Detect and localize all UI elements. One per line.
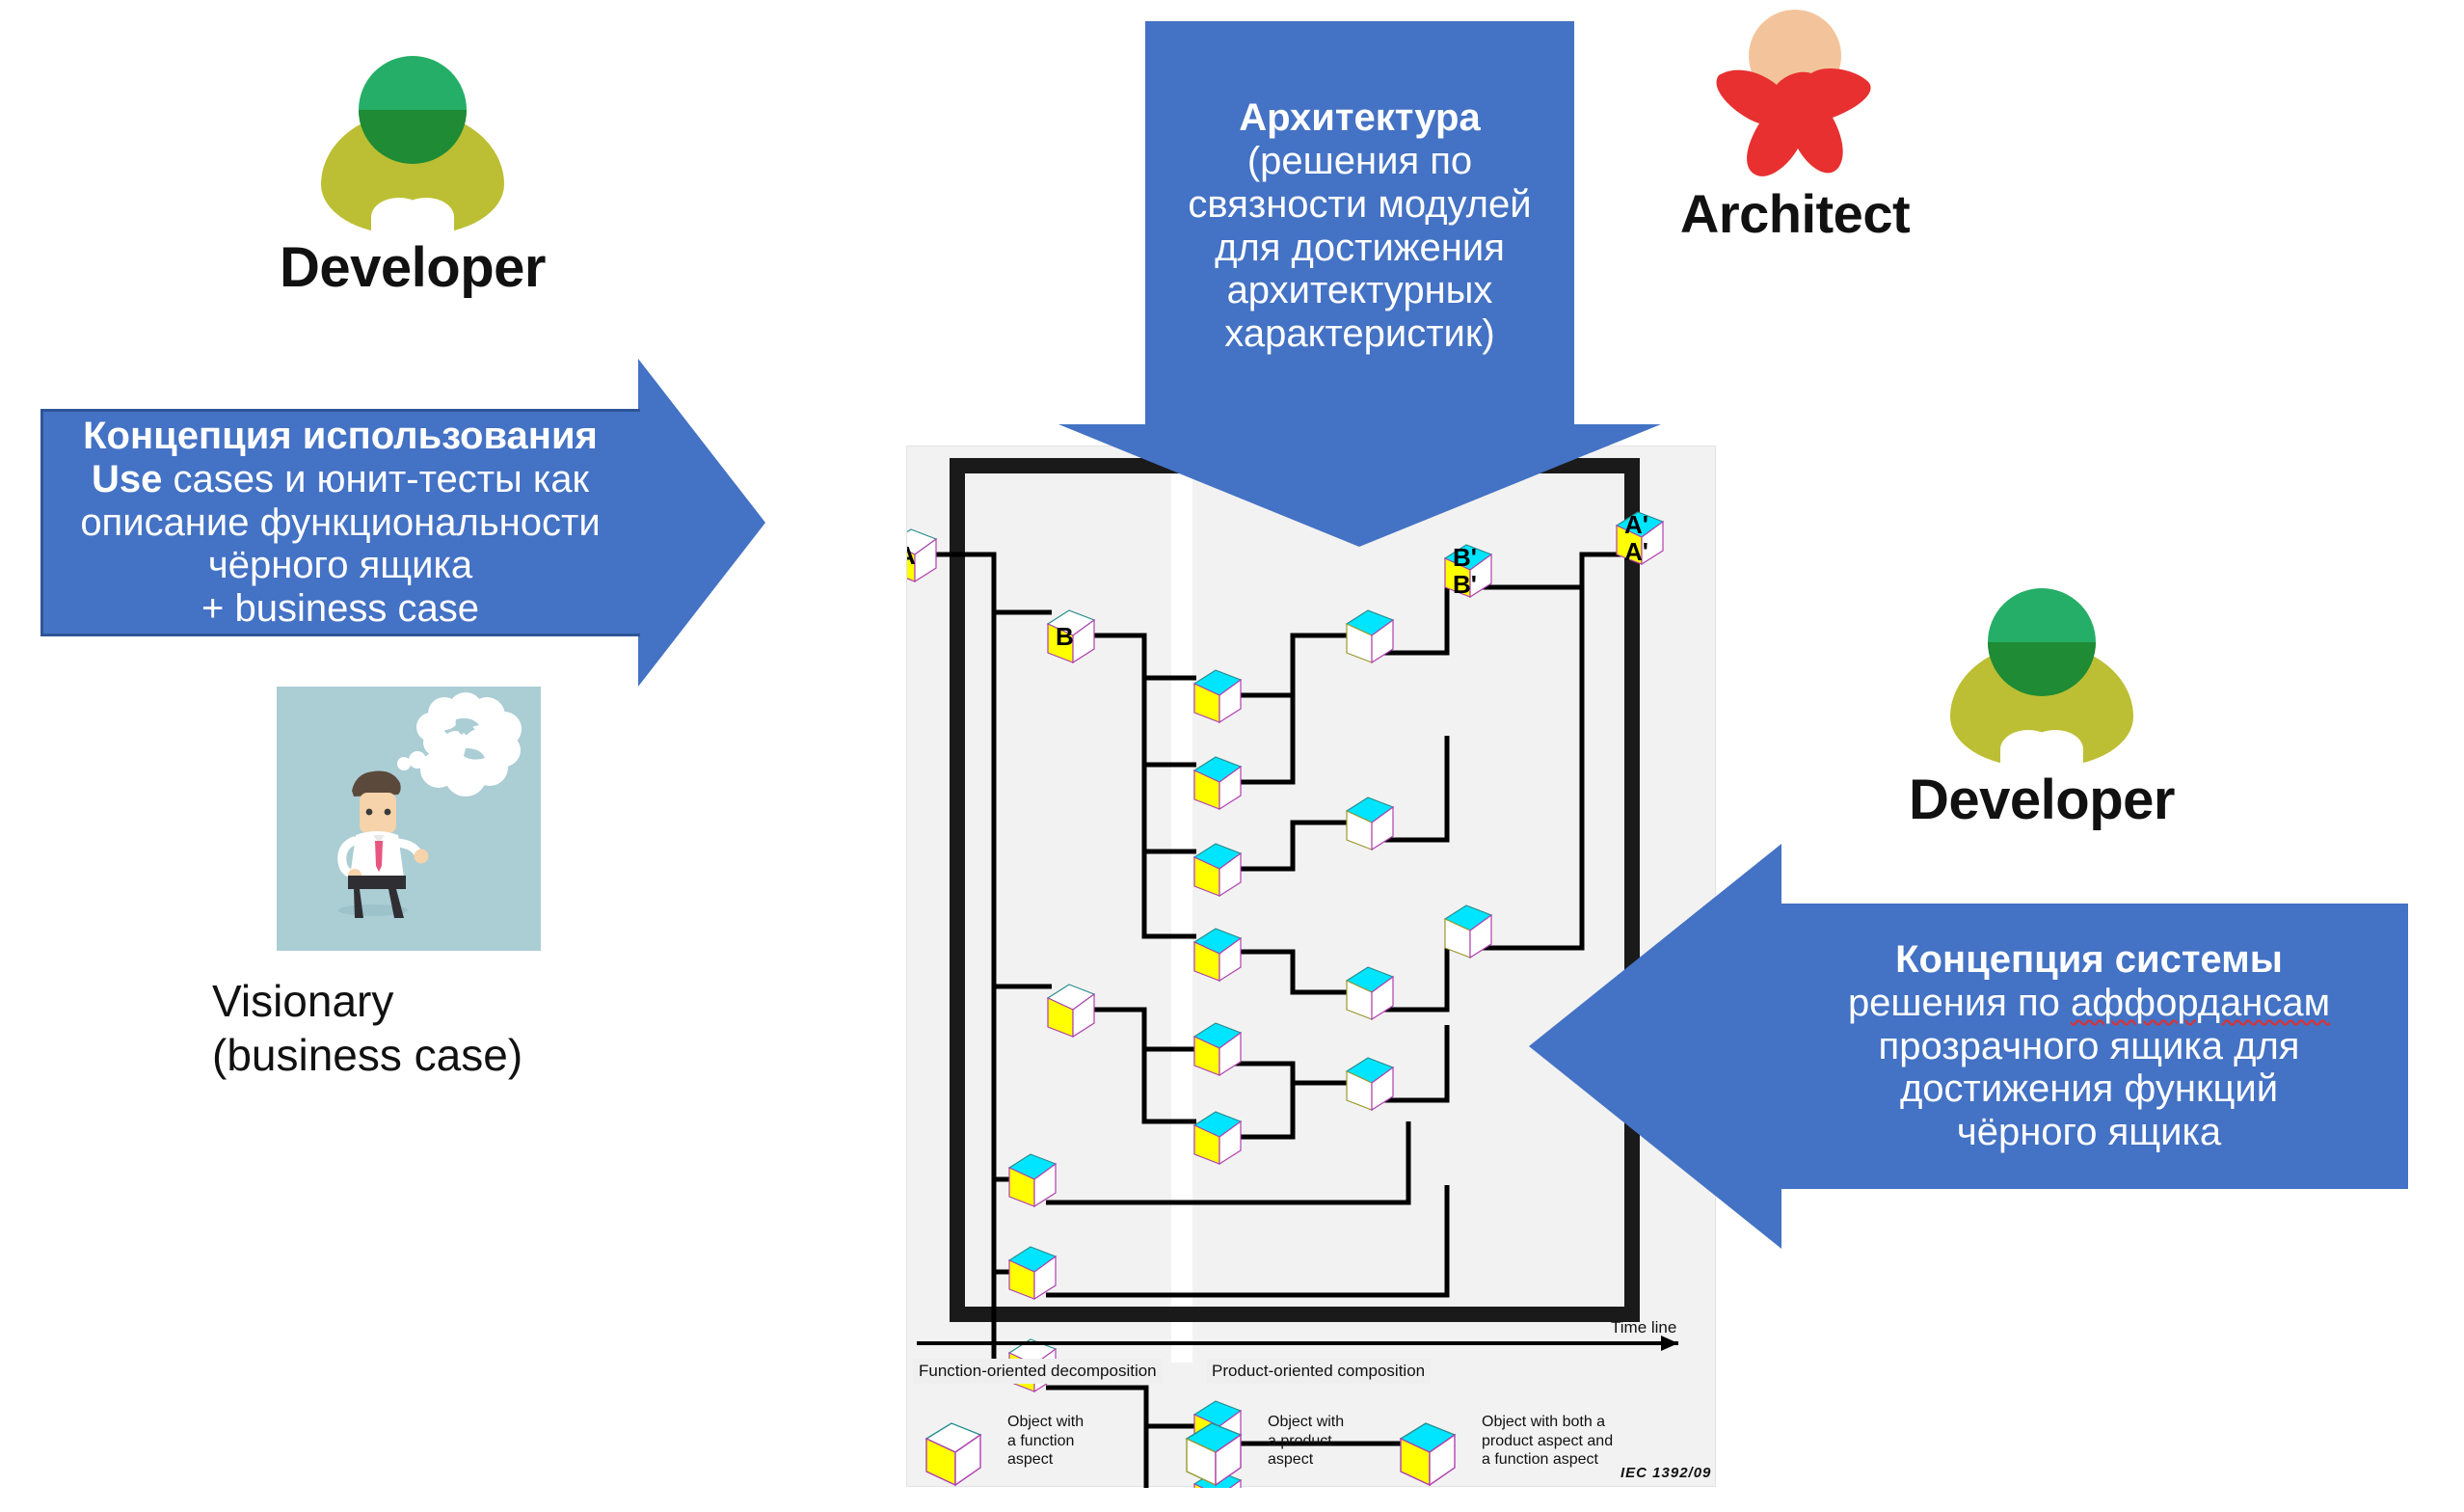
arrow-system-misspelled-word: аффордансам bbox=[2071, 982, 2330, 1024]
arrow-usage-concept-line1: Use cases и юнит-тесты как bbox=[54, 458, 627, 501]
legend-item-both: Object with both a product aspect and a … bbox=[1482, 1413, 1613, 1470]
arrow-usage-concept-title: Концепция использования bbox=[54, 415, 627, 458]
arrow-usage-concept-line4: + business case bbox=[54, 587, 627, 631]
legend-product-line1: Object with bbox=[1268, 1413, 1344, 1432]
slide-canvas: Developer Architect Developer bbox=[0, 0, 2464, 1492]
svg-text:A: A bbox=[907, 541, 916, 570]
arrow-system-concept-line1: решения по аффордансам bbox=[1783, 982, 2395, 1025]
visionary-illustration bbox=[277, 687, 541, 951]
legend-product-line2: a product bbox=[1268, 1432, 1344, 1451]
svg-text:B': B' bbox=[1453, 570, 1477, 599]
role-developer-left: Developer bbox=[249, 56, 576, 296]
legend-item-function: Object with a function aspect bbox=[1007, 1413, 1084, 1470]
svg-text:A': A' bbox=[1624, 537, 1648, 566]
arrow-architecture-line3: для достижения bbox=[1114, 227, 1606, 270]
arrow-system-concept-line2: прозрачного ящика для bbox=[1783, 1025, 2395, 1068]
section-label-function-decomposition: Function-oriented decomposition bbox=[913, 1359, 1163, 1384]
visionary-caption: Visionary (business case) bbox=[212, 974, 522, 1082]
arrow-usage-concept-line3: чёрного ящика bbox=[54, 544, 627, 587]
arrow-architecture-title: Архитектура bbox=[1114, 96, 1606, 140]
role-label-developer-left: Developer bbox=[249, 240, 576, 296]
legend-function-line1: Object with bbox=[1007, 1413, 1084, 1432]
legend-function-line2: a function bbox=[1007, 1432, 1084, 1451]
section-label-product-composition: Product-oriented composition bbox=[1206, 1359, 1431, 1384]
arrow-usage-line1-rest: cases и юнит-тесты как bbox=[162, 458, 589, 500]
arrow-usage-concept[interactable]: Концепция использования Use cases и юнит… bbox=[40, 359, 765, 687]
role-architect: Architect bbox=[1660, 10, 1930, 241]
svg-text:B: B bbox=[1056, 622, 1074, 651]
arrow-architecture-line2: связности модулей bbox=[1114, 183, 1606, 227]
legend-function-line3: aspect bbox=[1007, 1450, 1084, 1470]
arrow-usage-bold-use: Use bbox=[92, 458, 162, 500]
arrow-architecture-line5: характеристик) bbox=[1114, 312, 1606, 356]
legend-item-product: Object with a product aspect bbox=[1268, 1413, 1344, 1470]
svg-text:B': B' bbox=[1453, 543, 1477, 572]
role-developer-right: Developer bbox=[1878, 588, 2206, 828]
visionary-label-line2: (business case) bbox=[212, 1028, 522, 1082]
timeline-label: Time line bbox=[1611, 1318, 1676, 1337]
arrow-usage-concept-line2: описание функциональности bbox=[54, 501, 627, 545]
role-label-architect: Architect bbox=[1660, 187, 1930, 241]
role-label-developer-right: Developer bbox=[1878, 772, 2206, 828]
arrow-system-line1-prefix: решения по bbox=[1848, 982, 2071, 1024]
legend-both-line3: a function aspect bbox=[1482, 1450, 1613, 1470]
iec-source-code: IEC 1392/09 bbox=[1620, 1465, 1711, 1481]
legend-product-line3: aspect bbox=[1268, 1450, 1344, 1470]
arrow-architecture-text: Архитектура (решения по связности модуле… bbox=[1101, 96, 1620, 356]
developer-blob-logo bbox=[1950, 588, 2133, 767]
arrow-architecture-line1: (решения по bbox=[1114, 140, 1606, 183]
legend-both-line1: Object with both a bbox=[1482, 1413, 1613, 1432]
iec-vee-diagram: A B B' B' A' A' Function-oriented decomp… bbox=[906, 445, 1716, 1487]
arrow-system-concept-line3: достижения функций bbox=[1783, 1067, 2395, 1111]
arrow-system-concept-text: Концепция системы решения по аффордансам… bbox=[1770, 938, 2408, 1154]
legend-both-line2: product aspect and bbox=[1482, 1432, 1613, 1451]
visionary-label-line1: Visionary bbox=[212, 974, 522, 1028]
developer-blob-logo bbox=[321, 56, 504, 234]
svg-text:A': A' bbox=[1624, 510, 1648, 539]
arrow-system-concept-title: Концепция системы bbox=[1783, 938, 2395, 982]
architect-star-logo bbox=[1703, 10, 1887, 193]
arrow-architecture-line4: архитектурных bbox=[1114, 269, 1606, 312]
arrow-system-concept-line4: чёрного ящика bbox=[1783, 1111, 2395, 1154]
arrow-usage-concept-text: Концепция использования Use cases и юнит… bbox=[40, 415, 640, 631]
